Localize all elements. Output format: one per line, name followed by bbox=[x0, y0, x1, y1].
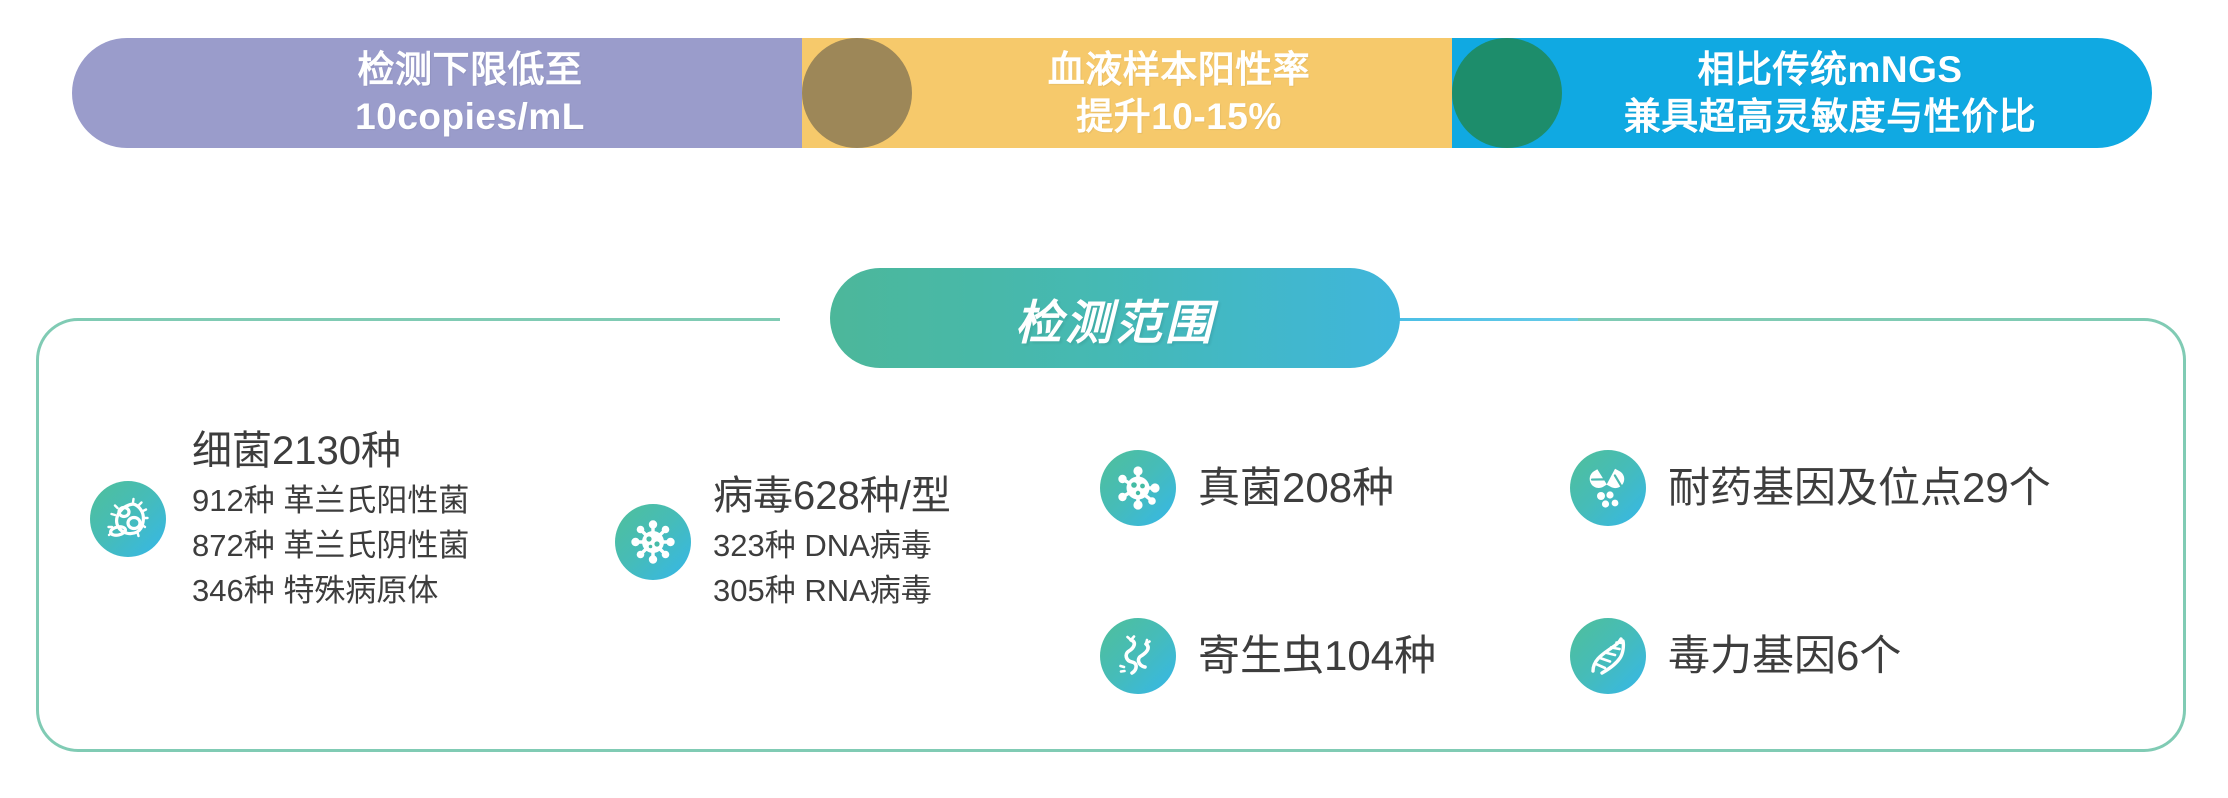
dna-icon bbox=[1570, 618, 1646, 694]
banner-pill-text: 检测下限低至 10copies/mL bbox=[355, 46, 585, 141]
group-text: 细菌2130种 912种 革兰氏阳性菌 872种 革兰氏阴性菌 346种 特殊病… bbox=[192, 425, 469, 614]
banner-line-1: 检测下限低至 bbox=[355, 46, 585, 93]
group-text: 毒力基因6个 bbox=[1668, 628, 1901, 683]
group-sub-1: 323种 DNA病毒 bbox=[713, 523, 951, 568]
group-heading: 病毒628种/型 bbox=[713, 470, 951, 523]
group-heading: 毒力基因6个 bbox=[1668, 628, 1901, 683]
group-text: 病毒628种/型 323种 DNA病毒 305种 RNA病毒 bbox=[713, 470, 951, 613]
banner-line-1: 血液样本阳性率 bbox=[1048, 46, 1311, 93]
group-sub-3: 346种 特殊病原体 bbox=[192, 568, 469, 613]
group-text: 寄生虫104种 bbox=[1198, 628, 1436, 683]
banner-pill-blood-positive-rate: 血液样本阳性率 提升10-15% bbox=[802, 38, 1492, 148]
banner-line-2: 10copies/mL bbox=[355, 93, 585, 140]
fungus-icon bbox=[1100, 450, 1176, 526]
bacteria-icon bbox=[90, 481, 166, 557]
group-bacteria: 细菌2130种 912种 革兰氏阳性菌 872种 革兰氏阴性菌 346种 特殊病… bbox=[90, 425, 469, 614]
group-sub-2: 305种 RNA病毒 bbox=[713, 568, 951, 613]
virus-icon bbox=[615, 504, 691, 580]
parasite-icon bbox=[1100, 618, 1176, 694]
group-heading: 真菌208种 bbox=[1198, 460, 1394, 515]
group-fungus: 真菌208种 bbox=[1100, 450, 1394, 526]
group-sub-2: 872种 革兰氏阴性菌 bbox=[192, 523, 469, 568]
group-text: 真菌208种 bbox=[1198, 460, 1394, 515]
group-heading: 细菌2130种 bbox=[192, 425, 469, 478]
detection-scope-title-badge: 检测范围 bbox=[830, 268, 1400, 368]
banner-line-1: 相比传统mNGS bbox=[1624, 46, 2037, 93]
banner-pill-vs-traditional-mngs: 相比传统mNGS 兼具超高灵敏度与性价比 bbox=[1452, 38, 2152, 148]
group-virus: 病毒628种/型 323种 DNA病毒 305种 RNA病毒 bbox=[615, 470, 951, 613]
banner-pill-detection-limit: 检测下限低至 10copies/mL bbox=[72, 38, 832, 148]
group-heading: 耐药基因及位点29个 bbox=[1668, 460, 2051, 515]
group-text: 耐药基因及位点29个 bbox=[1668, 460, 2051, 515]
page-title: 检测范围 bbox=[1015, 284, 1215, 353]
group-parasite: 寄生虫104种 bbox=[1100, 618, 1436, 694]
highlight-banner: 检测下限低至 10copies/mL 血液样本阳性率 提升10-15% 相比传统… bbox=[72, 38, 2152, 148]
pills-icon bbox=[1570, 450, 1646, 526]
group-drug-resistance: 耐药基因及位点29个 bbox=[1570, 450, 2051, 526]
banner-pill-text: 相比传统mNGS 兼具超高灵敏度与性价比 bbox=[1624, 46, 2037, 141]
group-heading: 寄生虫104种 bbox=[1198, 628, 1436, 683]
group-virulence-gene: 毒力基因6个 bbox=[1570, 618, 1901, 694]
card-connector-line-right bbox=[1398, 318, 1578, 321]
banner-line-2: 兼具超高灵敏度与性价比 bbox=[1624, 93, 2037, 140]
group-sub-1: 912种 革兰氏阳性菌 bbox=[192, 478, 469, 523]
banner-pill-text: 血液样本阳性率 提升10-15% bbox=[1048, 46, 1311, 141]
banner-line-2: 提升10-15% bbox=[1048, 93, 1311, 140]
